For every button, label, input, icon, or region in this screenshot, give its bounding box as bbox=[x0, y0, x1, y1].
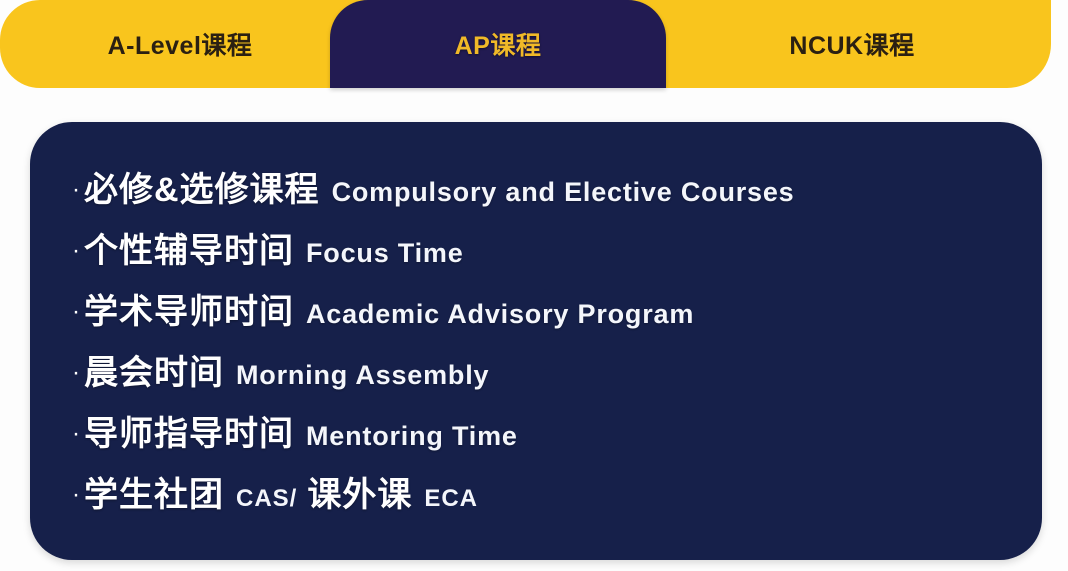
list-item-cn: 必修&选修课程 bbox=[84, 162, 320, 211]
list-item-en: Mentoring Time bbox=[306, 421, 518, 452]
list-item-cn: 晨会时间 bbox=[84, 345, 224, 394]
list-item-en-secondary: ECA bbox=[424, 485, 478, 513]
list-item: · 晨会时间 Morning Assembly bbox=[72, 345, 1012, 406]
list-item-en: Morning Assembly bbox=[236, 360, 489, 391]
course-tab-bar: A-Level课程 AP课程 NCUK课程 bbox=[0, 0, 1051, 88]
list-item: · 个性辅导时间 Focus Time bbox=[72, 223, 1012, 284]
list-item-en: Academic Advisory Program bbox=[306, 299, 694, 330]
tab-ap-label: AP课程 bbox=[455, 26, 542, 62]
list-item: · 学生社团 CAS/ 课外课 ECA bbox=[72, 467, 1012, 528]
bullet-icon: · bbox=[72, 483, 80, 507]
course-tabs-panel-screen: A-Level课程 AP课程 NCUK课程 · 必修&选修课程 Compulso… bbox=[0, 0, 1068, 571]
bullet-icon: · bbox=[72, 422, 80, 446]
tab-a-level[interactable]: A-Level课程 bbox=[30, 0, 330, 88]
course-list: · 必修&选修课程 Compulsory and Elective Course… bbox=[72, 162, 1012, 528]
list-item-cn: 学术导师时间 bbox=[84, 284, 294, 333]
list-item-en: CAS/ bbox=[236, 485, 297, 513]
bullet-icon: · bbox=[72, 361, 80, 385]
bullet-icon: · bbox=[72, 300, 80, 324]
list-item: · 导师指导时间 Mentoring Time bbox=[72, 406, 1012, 467]
list-item-en: Compulsory and Elective Courses bbox=[332, 177, 795, 208]
list-item-cn: 个性辅导时间 bbox=[84, 223, 294, 272]
list-item-cn-secondary: 课外课 bbox=[307, 467, 412, 516]
list-item-cn: 导师指导时间 bbox=[84, 406, 294, 455]
tab-ncuk-label: NCUK课程 bbox=[789, 26, 914, 62]
list-item-cn: 学生社团 bbox=[84, 467, 224, 516]
tab-a-level-label: A-Level课程 bbox=[108, 26, 253, 62]
tab-ap[interactable]: AP课程 bbox=[330, 0, 666, 88]
list-item: · 学术导师时间 Academic Advisory Program bbox=[72, 284, 1012, 345]
list-item: · 必修&选修课程 Compulsory and Elective Course… bbox=[72, 162, 1012, 223]
bullet-icon: · bbox=[72, 239, 80, 263]
bullet-icon: · bbox=[72, 178, 80, 202]
course-content-panel: · 必修&选修课程 Compulsory and Elective Course… bbox=[30, 122, 1042, 560]
list-item-en: Focus Time bbox=[306, 238, 464, 269]
tab-ncuk[interactable]: NCUK课程 bbox=[666, 0, 1038, 88]
